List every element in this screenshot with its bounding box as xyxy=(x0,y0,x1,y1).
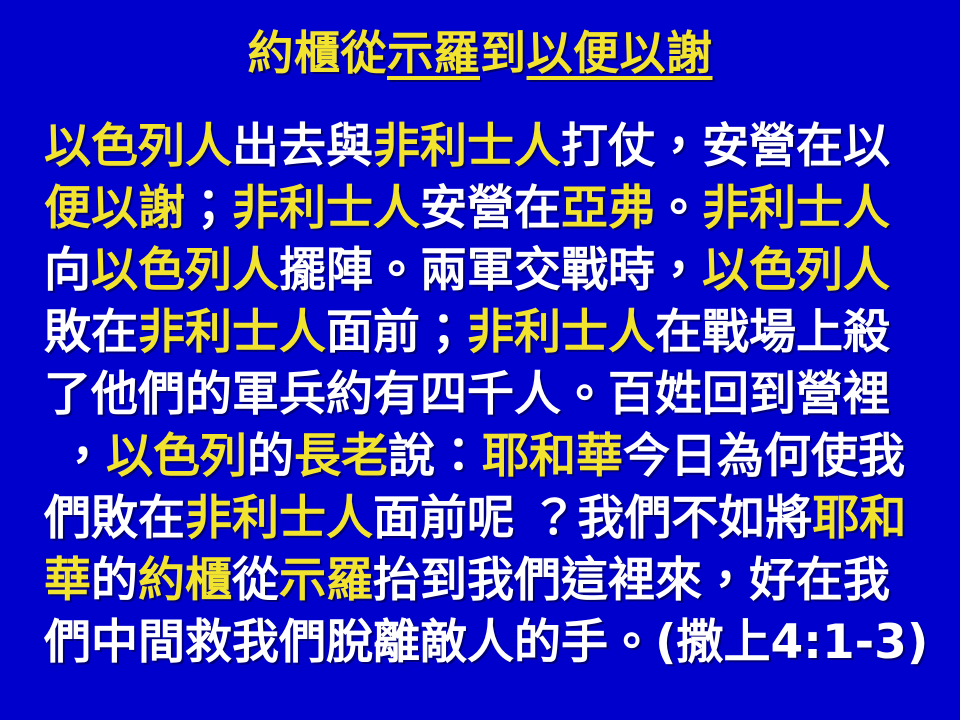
verse-keyword: 華 xyxy=(44,553,91,608)
verse-keyword: 非利士人 xyxy=(467,305,655,360)
verse-text: 了他們的軍兵約有四千人。百姓回到營裡 xyxy=(44,367,890,422)
verse-keyword: 以色列 xyxy=(106,429,247,484)
title-text: 約櫃從示羅到以便以謝 xyxy=(248,30,713,76)
verse-line: 們中間救我們脫離敵人的手。(撒上4:1-3) xyxy=(44,612,920,674)
verse-keyword: 以色列人 xyxy=(91,243,279,298)
verse-keyword: 非利士人 xyxy=(373,119,561,174)
verse-line: 華的約櫃從示羅抬到我們這裡來，好在我 xyxy=(44,550,920,612)
verse-line: 以色列人出去與非利士人打仗，安營在以 xyxy=(44,116,920,178)
verse-text: 們中間救我們脫離敵人的手。(撒上4:1-3) xyxy=(44,615,928,670)
verse-line: 們敗在非利士人面前呢 ？我們不如將耶和 xyxy=(44,488,920,550)
verse-text: 。 xyxy=(655,181,702,236)
verse-text: 的 xyxy=(247,429,294,484)
verse-keyword: 非利士人 xyxy=(138,305,326,360)
verse-text: 面前呢 ？我們不如將 xyxy=(373,491,812,546)
verse-text: 打仗，安營在以 xyxy=(561,119,890,174)
title-segment-underlined: 以便以謝 xyxy=(527,26,713,80)
verse-line: 了他們的軍兵約有四千人。百姓回到營裡 xyxy=(44,364,920,426)
verse-text: 安營在 xyxy=(420,181,561,236)
verse-text: 今日為何使我 xyxy=(623,429,905,484)
verse-keyword: 非利士人 xyxy=(232,181,420,236)
verse-keyword: 以色列人 xyxy=(702,243,890,298)
verse-text: 敗在 xyxy=(44,305,138,360)
verse-keyword: 便以謝 xyxy=(44,181,185,236)
verse-keyword: 約櫃 xyxy=(138,553,232,608)
verse-text: 出去與 xyxy=(232,119,373,174)
verse-text: 們敗在 xyxy=(44,491,185,546)
verse-keyword: 長老 xyxy=(294,429,388,484)
verse-keyword: 非利士人 xyxy=(702,181,890,236)
verse-keyword: 示羅 xyxy=(279,553,373,608)
verse-line: 敗在非利士人面前；非利士人在戰場上殺 xyxy=(44,302,920,364)
verse-text: 向 xyxy=(44,243,91,298)
verse-body: 以色列人出去與非利士人打仗，安營在以便以謝；非利士人安營在亞弗。非利士人向以色列… xyxy=(44,116,920,674)
verse-keyword: 非利士人 xyxy=(185,491,373,546)
verse-text: 擺陣。兩軍交戰時， xyxy=(279,243,702,298)
verse-line: 便以謝；非利士人安營在亞弗。非利士人 xyxy=(44,178,920,240)
title-segment-underlined: 示羅 xyxy=(387,26,480,80)
verse-line: ，以色列的長老說：耶和華今日為何使我 xyxy=(44,426,920,488)
verse-text: ， xyxy=(59,429,106,484)
title-segment: 到 xyxy=(480,26,527,80)
verse-keyword: 亞弗 xyxy=(561,181,655,236)
slide-canvas: 約櫃從示羅到以便以謝 以色列人出去與非利士人打仗，安營在以便以謝；非利士人安營在… xyxy=(0,0,960,720)
verse-text: 抬到我們這裡來，好在我 xyxy=(373,553,890,608)
verse-text: 的 xyxy=(91,553,138,608)
verse-text: 從 xyxy=(232,553,279,608)
title-segment: 約櫃從 xyxy=(248,26,388,80)
slide-title: 約櫃從示羅到以便以謝 xyxy=(0,30,960,76)
verse-keyword: 耶和 xyxy=(812,491,906,546)
verse-text: ； xyxy=(185,181,232,236)
verse-text: 在戰場上殺 xyxy=(655,305,890,360)
verse-text: 說： xyxy=(388,429,482,484)
verse-keyword: 耶和華 xyxy=(482,429,623,484)
verse-text: 面前； xyxy=(326,305,467,360)
verse-line: 向以色列人擺陣。兩軍交戰時，以色列人 xyxy=(44,240,920,302)
verse-keyword: 以色列人 xyxy=(44,119,232,174)
